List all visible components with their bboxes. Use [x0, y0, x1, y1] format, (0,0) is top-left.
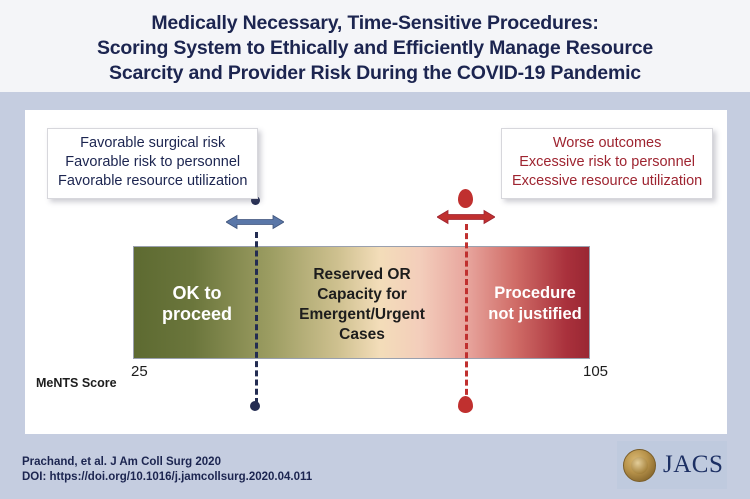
citation-line-doi: DOI: https://doi.org/10.1016/j.jamcollsu… [22, 470, 312, 485]
slide-canvas: Medically Necessary, Time-Sensitive Proc… [0, 0, 750, 499]
band-label-notjust-line-1: Procedure [494, 284, 576, 302]
citation-line-reference: Prachand, et al. J Am Coll Surg 2020 [22, 455, 312, 470]
jacs-logo: JACS [617, 441, 727, 489]
jacs-wordmark: JACS [663, 451, 723, 479]
band-label-ok-line-2: proceed [162, 304, 232, 324]
band-label-procedure-not-justified: Procedure not justified [474, 283, 596, 325]
jacs-seal-icon [623, 449, 656, 482]
title-line-2: Scoring System to Ethically and Efficien… [97, 36, 653, 61]
band-label-reserved-or-capacity: Reserved OR Capacity for Emergent/Urgent… [272, 265, 452, 345]
blue-marker-dot-icon [250, 401, 260, 411]
callout-favorable: Favorable surgical risk Favorable risk t… [47, 128, 258, 199]
title-line-1: Medically Necessary, Time-Sensitive Proc… [151, 11, 598, 36]
blue-threshold-dashed-line [255, 232, 258, 404]
callout-left-line-1: Favorable surgical risk [58, 134, 247, 153]
axis-label-ments-score: MeNTS Score [36, 376, 117, 390]
band-label-reserved-line-3: Emergent/Urgent [299, 306, 425, 323]
scale-max-value: 105 [583, 363, 608, 380]
red-marker-dot-icon [458, 396, 473, 413]
band-label-ok-to-proceed: OK to proceed [146, 283, 248, 325]
callout-right-line-2: Excessive risk to personnel [512, 153, 702, 172]
title-line-3: Scarcity and Provider Risk During the CO… [109, 61, 641, 86]
scale-min-value: 25 [131, 363, 148, 380]
callout-left-line-3: Favorable resource utilization [58, 172, 247, 191]
callout-left-line-2: Favorable risk to personnel [58, 153, 247, 172]
red-pin-head-icon [458, 189, 473, 208]
band-label-ok-line-1: OK to [173, 283, 222, 303]
title-band: Medically Necessary, Time-Sensitive Proc… [0, 0, 750, 92]
red-double-arrow-icon [437, 208, 495, 226]
callout-excessive: Worse outcomes Excessive risk to personn… [501, 128, 713, 199]
citation-block: Prachand, et al. J Am Coll Surg 2020 DOI… [22, 455, 312, 485]
band-label-reserved-line-4: Cases [339, 326, 385, 343]
blue-double-arrow-icon [226, 213, 284, 231]
callout-right-line-3: Excessive resource utilization [512, 172, 702, 191]
band-label-reserved-line-2: Capacity for [317, 286, 407, 303]
band-label-reserved-line-1: Reserved OR [313, 266, 410, 283]
band-label-notjust-line-2: not justified [488, 305, 582, 323]
red-threshold-dashed-line [465, 224, 468, 404]
callout-right-line-1: Worse outcomes [512, 134, 702, 153]
